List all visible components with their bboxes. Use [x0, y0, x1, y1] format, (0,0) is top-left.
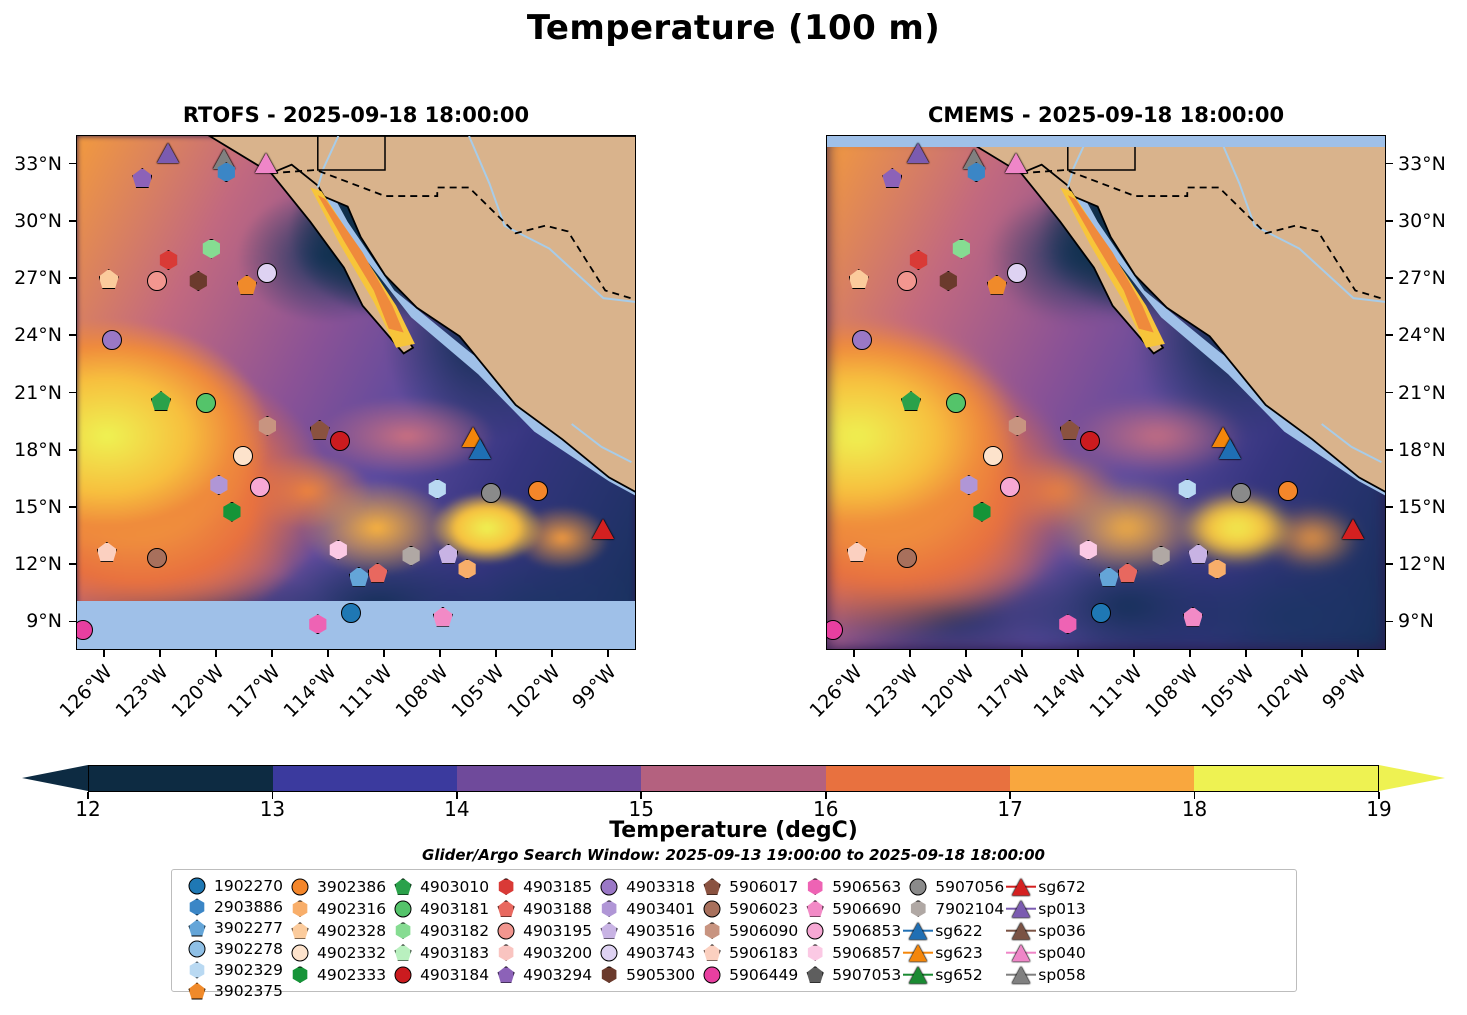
- panel-title-cmems: CMEMS - 2025-09-18 18:00:00: [826, 103, 1386, 127]
- search-window-text: Glider/Argo Search Window: 2025-09-13 19…: [0, 846, 1467, 864]
- ytick-mark: [1386, 220, 1393, 222]
- legend-entry-4902333[interactable]: 4902333: [283, 964, 386, 985]
- legend-entry-5905300[interactable]: 5905300: [592, 964, 695, 985]
- platform-marker-5907056[interactable]: [481, 483, 501, 503]
- legend-swatch: [386, 877, 420, 897]
- ytick-mark: [1386, 563, 1393, 565]
- xtick-mark: [1021, 650, 1023, 657]
- legend-label: 5906023: [729, 900, 798, 918]
- legend-entry-sg623[interactable]: sg623: [901, 942, 1004, 963]
- platform-marker-sp013[interactable]: [1012, 900, 1030, 917]
- legend-entry-4903183[interactable]: 4903183: [386, 942, 489, 963]
- xtick-label: 99°W: [553, 661, 621, 729]
- legend-swatch: [901, 921, 935, 941]
- platform-marker-3902375[interactable]: [189, 983, 206, 1000]
- xtick-label: 99°W: [1303, 661, 1371, 729]
- legend-label: 4902328: [317, 922, 386, 940]
- colorbar-segment: [89, 766, 273, 791]
- ytick-label: 18°N: [1398, 439, 1467, 461]
- xtick-mark: [215, 650, 217, 657]
- legend-label: sp058: [1038, 966, 1086, 984]
- platform-marker-4903195[interactable]: [498, 922, 515, 939]
- platform-marker-5906857[interactable]: [807, 944, 824, 961]
- platform-marker-4903294[interactable]: [498, 966, 515, 983]
- colorbar-segment: [641, 766, 825, 791]
- legend-swatch: [180, 981, 214, 1001]
- platform-marker-sg622[interactable]: [909, 922, 927, 939]
- xtick-label: 120°W: [911, 661, 979, 729]
- legend-swatch: [1004, 877, 1038, 897]
- xtick-mark: [1077, 650, 1079, 657]
- platform-marker-1902270[interactable]: [1091, 603, 1111, 623]
- legend-entry-4903188[interactable]: 4903188: [489, 898, 592, 919]
- legend-entry-4903401[interactable]: 4903401: [592, 898, 695, 919]
- legend-entry-5906563[interactable]: 5906563: [798, 876, 901, 897]
- colorbar-segment: [1194, 766, 1378, 791]
- legend-entry-3902386[interactable]: 3902386: [283, 876, 386, 897]
- legend-entry-1902270[interactable]: 1902270: [180, 876, 283, 896]
- legend-swatch: [592, 921, 626, 941]
- legend-entry-5906853[interactable]: 5906853: [798, 920, 901, 941]
- platform-marker-5906690[interactable]: [807, 900, 824, 917]
- legend-entry-5906857[interactable]: 5906857: [798, 942, 901, 963]
- platform-marker-4903183[interactable]: [395, 944, 412, 961]
- platform-marker-5906449[interactable]: [704, 966, 721, 983]
- ytick-mark: [69, 392, 76, 394]
- legend-swatch: [283, 943, 317, 963]
- platform-marker-4902316[interactable]: [292, 900, 309, 917]
- colorbar-segment: [457, 766, 641, 791]
- legend-label: 5906853: [832, 922, 901, 940]
- legend-entry-sp040[interactable]: sp040: [1004, 942, 1086, 963]
- ytick-label: 9°N: [1398, 610, 1467, 632]
- platform-marker-5906853[interactable]: [1000, 477, 1020, 497]
- xtick-label: 123°W: [855, 661, 923, 729]
- xtick-label: 108°W: [1135, 661, 1203, 729]
- xtick-mark: [159, 650, 161, 657]
- legend-swatch: [386, 899, 420, 919]
- legend-entry-4903318[interactable]: 4903318: [592, 876, 695, 897]
- platform-marker-3902278[interactable]: [189, 941, 206, 958]
- platform-marker-4902332[interactable]: [233, 446, 253, 466]
- legend-swatch: [283, 899, 317, 919]
- legend-entry-3902375[interactable]: 3902375: [180, 981, 283, 1001]
- legend-entry-4903294[interactable]: 4903294: [489, 964, 592, 985]
- legend-swatch: [798, 899, 832, 919]
- legend-label: 4903195: [523, 922, 592, 940]
- platform-marker-5907053[interactable]: [807, 966, 824, 983]
- legend-label: 4903318: [626, 878, 695, 896]
- platform-marker-4903181[interactable]: [196, 393, 216, 413]
- legend-swatch: [592, 943, 626, 963]
- legend-label: 4903010: [420, 878, 489, 896]
- platform-marker-7902104[interactable]: [910, 900, 927, 917]
- legend-label: sp036: [1038, 922, 1086, 940]
- platform-marker-4903181[interactable]: [946, 393, 966, 413]
- platform-marker-3902277[interactable]: [189, 920, 206, 937]
- platform-marker-4903188[interactable]: [498, 900, 515, 917]
- xtick-mark: [103, 650, 105, 657]
- platform-marker-3902386[interactable]: [292, 878, 309, 895]
- legend-entry-3902277[interactable]: 3902277: [180, 918, 283, 938]
- legend-entry-sp013[interactable]: sp013: [1004, 898, 1086, 919]
- platform-marker-5906017[interactable]: [704, 878, 721, 895]
- legend-swatch: [489, 965, 523, 985]
- legend-swatch: [695, 965, 729, 985]
- legend-entry-4903182[interactable]: 4903182: [386, 920, 489, 941]
- platform-marker-3902386[interactable]: [528, 481, 548, 501]
- xtick-mark: [1189, 650, 1191, 657]
- legend-label: sg622: [935, 922, 983, 940]
- ytick-label: 33°N: [0, 153, 62, 175]
- legend-swatch: [283, 965, 317, 985]
- platform-marker-4903182[interactable]: [395, 922, 412, 939]
- platform-marker-4903184[interactable]: [330, 431, 350, 451]
- colorbar-body[interactable]: [88, 765, 1379, 792]
- ytick-label: 15°N: [0, 496, 62, 518]
- platform-marker-5907056[interactable]: [910, 878, 927, 895]
- legend-swatch: [386, 965, 420, 985]
- platform-marker-4903318[interactable]: [852, 330, 872, 350]
- ytick-label: 27°N: [1398, 267, 1467, 289]
- platform-marker-5906023[interactable]: [704, 900, 721, 917]
- legend-column: 59070567902104sg622sg623sg652: [901, 876, 1004, 985]
- xtick-mark: [607, 650, 609, 657]
- legend-swatch: [180, 876, 214, 896]
- xtick-mark: [965, 650, 967, 657]
- legend-label: 5906857: [832, 944, 901, 962]
- platform-marker-5906853[interactable]: [807, 922, 824, 939]
- xtick-label: 102°W: [497, 661, 565, 729]
- platform-marker-2903886[interactable]: [189, 899, 206, 916]
- figure-title: Temperature (100 m): [0, 8, 1467, 48]
- legend-label: 7902104: [935, 900, 1004, 918]
- legend-entry-5906449[interactable]: 5906449: [695, 964, 798, 985]
- legend-column: 59060175906023590609059061835906449: [695, 876, 798, 985]
- xtick-mark: [1357, 650, 1359, 657]
- legend-label: 5906183: [729, 944, 798, 962]
- platform-marker-4903010[interactable]: [395, 878, 412, 895]
- legend-label: 3902386: [317, 878, 386, 896]
- ytick-label: 21°N: [1398, 382, 1467, 404]
- map-frame-cmems[interactable]: [826, 135, 1386, 650]
- legend-column: 49030104903181490318249031834903184: [386, 876, 489, 985]
- ytick-mark: [69, 334, 76, 336]
- platform-marker-sp058[interactable]: [1012, 966, 1030, 983]
- legend-label: 5906563: [832, 878, 901, 896]
- ytick-mark: [1386, 334, 1393, 336]
- legend-entry-4903181[interactable]: 4903181: [386, 898, 489, 919]
- legend-swatch: [592, 877, 626, 897]
- legend-swatch: [1004, 921, 1038, 941]
- platform-marker-4902332[interactable]: [292, 944, 309, 961]
- legend-entry-4903195[interactable]: 4903195: [489, 920, 592, 941]
- platform-marker-4903185[interactable]: [498, 878, 515, 895]
- platform-marker-sp040[interactable]: [1012, 944, 1030, 961]
- legend-swatch: [798, 921, 832, 941]
- platform-marker-5906090[interactable]: [704, 922, 721, 939]
- platform-marker-5907056[interactable]: [1231, 483, 1251, 503]
- legend-entry-sg622[interactable]: sg622: [901, 920, 1004, 941]
- legend-label: 4903516: [626, 922, 695, 940]
- legend-label: 1902270: [214, 877, 283, 895]
- legend-entry-7902104[interactable]: 7902104: [901, 898, 1004, 919]
- ytick-label: 30°N: [1398, 210, 1467, 232]
- platform-marker-4903743[interactable]: [257, 263, 277, 283]
- platform-marker-sp013[interactable]: [157, 143, 179, 163]
- platform-marker-sg623[interactable]: [909, 944, 927, 961]
- platform-marker-sg672[interactable]: [592, 519, 614, 539]
- legend-label: sg672: [1038, 878, 1086, 896]
- legend-entry-4903516[interactable]: 4903516: [592, 920, 695, 941]
- platform-marker-5906023[interactable]: [147, 548, 167, 568]
- platform-marker-5906183[interactable]: [704, 944, 721, 961]
- platform-marker-sg652[interactable]: [909, 966, 927, 983]
- legend-swatch: [592, 899, 626, 919]
- legend-label: 3902329: [214, 961, 283, 979]
- legend-swatch: [180, 918, 214, 938]
- ytick-mark: [69, 449, 76, 451]
- legend-swatch: [798, 877, 832, 897]
- legend-swatch: [1004, 899, 1038, 919]
- xtick-label: 120°W: [161, 661, 229, 729]
- legend-entry-5906017[interactable]: 5906017: [695, 876, 798, 897]
- legend-label: 4903401: [626, 900, 695, 918]
- legend-column: 59065635906690590685359068575907053: [798, 876, 901, 985]
- platform-marker-4903200[interactable]: [498, 944, 515, 961]
- legend-swatch: [901, 965, 935, 985]
- legend-label: 5907053: [832, 966, 901, 984]
- colorbar-under-arrow: [22, 765, 88, 791]
- legend-swatch: [489, 943, 523, 963]
- ytick-mark: [1386, 506, 1393, 508]
- legend-label: 4903184: [420, 966, 489, 984]
- ytick-label: 30°N: [0, 210, 62, 232]
- legend-swatch: [798, 965, 832, 985]
- platform-marker-sp013[interactable]: [907, 143, 929, 163]
- platform-marker-4903184[interactable]: [395, 966, 412, 983]
- ytick-mark: [1386, 163, 1393, 165]
- legend-column: 39023864902316490232849023324902333: [283, 876, 386, 985]
- xtick-label: 108°W: [385, 661, 453, 729]
- ytick-mark: [69, 220, 76, 222]
- platform-marker-5905300[interactable]: [601, 966, 618, 983]
- xtick-mark: [383, 650, 385, 657]
- legend-entry-4903200[interactable]: 4903200: [489, 942, 592, 963]
- legend-entry-5906090[interactable]: 5906090: [695, 920, 798, 941]
- xtick-mark: [439, 650, 441, 657]
- ytick-label: 33°N: [1398, 153, 1467, 175]
- legend-entry-3902329[interactable]: 3902329: [180, 960, 283, 980]
- xtick-mark: [327, 650, 329, 657]
- legend-swatch: [180, 960, 214, 980]
- ytick-label: 24°N: [1398, 324, 1467, 346]
- platform-marker-sp040[interactable]: [255, 153, 277, 173]
- legend-label: 4902333: [317, 966, 386, 984]
- platform-marker-sg672[interactable]: [1342, 519, 1364, 539]
- legend-label: 5906017: [729, 878, 798, 896]
- platform-marker-4902333[interactable]: [292, 966, 309, 983]
- platform-marker-4902328[interactable]: [292, 922, 309, 939]
- colorbar[interactable]: 1213141516171819: [0, 757, 1467, 817]
- legend-entry-4902332[interactable]: 4902332: [283, 942, 386, 963]
- xtick-label: 111°W: [1079, 661, 1147, 729]
- legend-label: 4903185: [523, 878, 592, 896]
- legend-swatch: [901, 943, 935, 963]
- colorbar-segment: [273, 766, 457, 791]
- legend-label: 5906449: [729, 966, 798, 984]
- platform-marker-sg672[interactable]: [1012, 878, 1030, 895]
- ytick-label: 27°N: [0, 267, 62, 289]
- legend-entry-4903185[interactable]: 4903185: [489, 876, 592, 897]
- colorbar-title: Temperature (degC): [0, 818, 1467, 843]
- legend-label: 4903182: [420, 922, 489, 940]
- legend-swatch: [489, 899, 523, 919]
- platform-marker-1902270[interactable]: [189, 878, 206, 895]
- colorbar-segment: [1010, 766, 1194, 791]
- legend-swatch: [283, 877, 317, 897]
- legend-entry-4903743[interactable]: 4903743: [592, 942, 695, 963]
- platform-marker-4903184[interactable]: [1080, 431, 1100, 451]
- xtick-label: 126°W: [799, 661, 867, 729]
- map-frame-rtofs[interactable]: [76, 135, 636, 650]
- legend-label: 3902375: [214, 982, 283, 1000]
- legend-column: 49031854903188490319549032004903294: [489, 876, 592, 985]
- platform-marker-sg622[interactable]: [1219, 439, 1241, 459]
- legend-label: sp013: [1038, 900, 1086, 918]
- platform-marker-sp040[interactable]: [1005, 153, 1027, 173]
- platform-marker-1902270[interactable]: [341, 603, 361, 623]
- legend-column: sg672sp013sp036sp040sp058: [1004, 876, 1086, 985]
- legend-column: 49033184903401490351649037435905300: [592, 876, 695, 985]
- ytick-mark: [69, 277, 76, 279]
- legend-label: 5906090: [729, 922, 798, 940]
- platform-marker-4902332[interactable]: [983, 446, 1003, 466]
- xtick-label: 123°W: [105, 661, 173, 729]
- legend-entry-5907053[interactable]: 5907053: [798, 964, 901, 985]
- legend-label: 3902278: [214, 940, 283, 958]
- platform-marker-4903318[interactable]: [601, 878, 618, 895]
- colorbar-over-arrow: [1379, 765, 1445, 791]
- legend-entry-sg672[interactable]: sg672: [1004, 876, 1086, 897]
- colorbar-segment: [826, 766, 1010, 791]
- xtick-label: 117°W: [217, 661, 285, 729]
- xtick-mark: [495, 650, 497, 657]
- xtick-label: 117°W: [967, 661, 1035, 729]
- legend-label: 4903183: [420, 944, 489, 962]
- legend-entry-4903010[interactable]: 4903010: [386, 876, 489, 897]
- legend-label: 4903181: [420, 900, 489, 918]
- legend-label: 4903294: [523, 966, 592, 984]
- legend-entry-5907056[interactable]: 5907056: [901, 876, 1004, 897]
- platform-marker-3902386[interactable]: [1278, 481, 1298, 501]
- platform-marker-4903743[interactable]: [601, 944, 618, 961]
- platform-marker-5906853[interactable]: [250, 477, 270, 497]
- ytick-label: 15°N: [1398, 496, 1467, 518]
- platform-marker-4903181[interactable]: [395, 900, 412, 917]
- legend-entry-5906690[interactable]: 5906690: [798, 898, 901, 919]
- legend-swatch: [386, 921, 420, 941]
- legend-swatch: [695, 877, 729, 897]
- legend-swatch: [695, 943, 729, 963]
- ytick-mark: [69, 621, 76, 623]
- legend-entry-3902278[interactable]: 3902278: [180, 939, 283, 959]
- legend-entry-5906183[interactable]: 5906183: [695, 942, 798, 963]
- ytick-label: 12°N: [0, 553, 62, 575]
- legend-swatch: [592, 965, 626, 985]
- legend-label: 4902316: [317, 900, 386, 918]
- legend-label: 5905300: [626, 966, 695, 984]
- legend-swatch: [1004, 943, 1038, 963]
- xtick-mark: [1133, 650, 1135, 657]
- platform-marker-sg622[interactable]: [469, 439, 491, 459]
- ytick-mark: [1386, 277, 1393, 279]
- ytick-label: 9°N: [0, 610, 62, 632]
- legend-entry-sp036[interactable]: sp036: [1004, 920, 1086, 941]
- panel-title-rtofs: RTOFS - 2025-09-18 18:00:00: [76, 103, 636, 127]
- legend-swatch: [386, 943, 420, 963]
- xtick-mark: [853, 650, 855, 657]
- xtick-label: 102°W: [1247, 661, 1315, 729]
- legend-entry-4902316[interactable]: 4902316: [283, 898, 386, 919]
- legend-label: 4902332: [317, 944, 386, 962]
- legend-swatch: [798, 943, 832, 963]
- ytick-mark: [1386, 621, 1393, 623]
- xtick-label: 111°W: [329, 661, 397, 729]
- legend-entry-sp058[interactable]: sp058: [1004, 964, 1086, 985]
- xtick-label: 114°W: [1023, 661, 1091, 729]
- legend-swatch: [695, 921, 729, 941]
- legend-label: sg652: [935, 966, 983, 984]
- platform-legend[interactable]: 1902270290388639022773902278390232939023…: [171, 869, 1297, 992]
- platform-marker-4903195[interactable]: [897, 271, 917, 291]
- ytick-mark: [69, 163, 76, 165]
- legend-label: 2903886: [214, 898, 283, 916]
- ytick-mark: [69, 563, 76, 565]
- legend-swatch: [180, 897, 214, 917]
- platform-marker-4903516[interactable]: [601, 922, 618, 939]
- platform-marker-sp036[interactable]: [1012, 922, 1030, 939]
- platform-marker-4903318[interactable]: [102, 330, 122, 350]
- legend-swatch: [489, 921, 523, 941]
- legend-entry-2903886[interactable]: 2903886: [180, 897, 283, 917]
- legend-swatch: [489, 877, 523, 897]
- platform-marker-5906023[interactable]: [897, 548, 917, 568]
- xtick-label: 105°W: [1191, 661, 1259, 729]
- legend-swatch: [901, 899, 935, 919]
- legend-entry-5906023[interactable]: 5906023: [695, 898, 798, 919]
- ytick-mark: [1386, 449, 1393, 451]
- xtick-mark: [1245, 650, 1247, 657]
- legend-entry-sg652[interactable]: sg652: [901, 964, 1004, 985]
- xtick-label: 105°W: [441, 661, 509, 729]
- legend-label: 3902277: [214, 919, 283, 937]
- platform-marker-4903401[interactable]: [601, 900, 618, 917]
- legend-entry-4903184[interactable]: 4903184: [386, 964, 489, 985]
- platform-marker-3902329[interactable]: [189, 962, 206, 979]
- legend-swatch: [1004, 965, 1038, 985]
- platform-marker-5906563[interactable]: [807, 878, 824, 895]
- map-panel-rtofs: RTOFS - 2025-09-18 18:00:00: [76, 135, 636, 650]
- xtick-mark: [271, 650, 273, 657]
- xtick-mark: [551, 650, 553, 657]
- legend-entry-4902328[interactable]: 4902328: [283, 920, 386, 941]
- platform-marker-4903743[interactable]: [1007, 263, 1027, 283]
- xtick-mark: [1301, 650, 1303, 657]
- legend-swatch: [695, 899, 729, 919]
- platform-marker-4903195[interactable]: [147, 271, 167, 291]
- ytick-label: 18°N: [0, 439, 62, 461]
